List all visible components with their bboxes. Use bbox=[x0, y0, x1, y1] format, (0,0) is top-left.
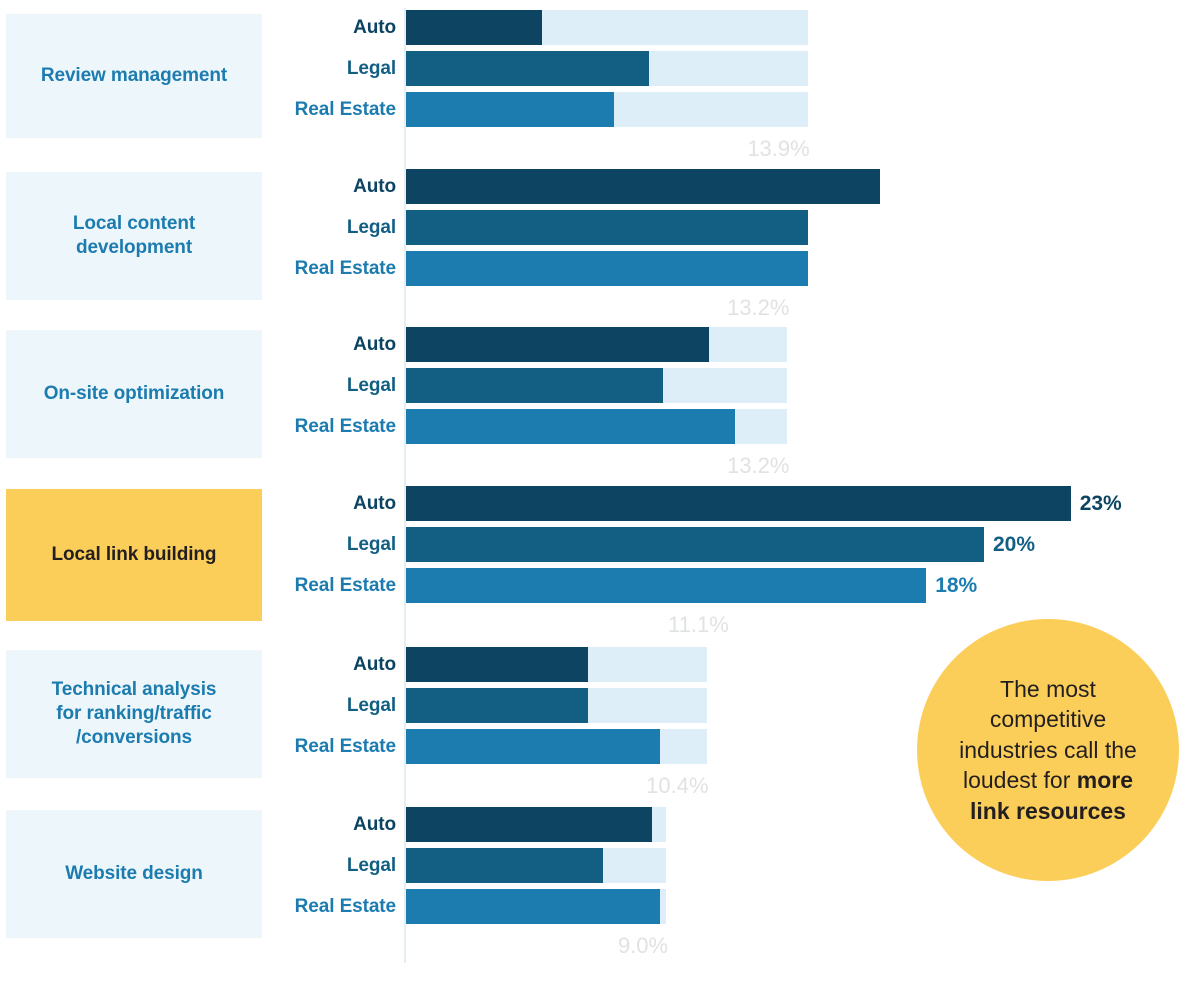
benchmark-label: 9.0% bbox=[0, 931, 668, 961]
series-label-realestate: Real Estate bbox=[0, 889, 396, 924]
series-label-realestate: Real Estate bbox=[0, 92, 396, 127]
bar-realestate[interactable] bbox=[406, 92, 614, 127]
series-label-realestate: Real Estate bbox=[0, 729, 396, 764]
bar-realestate[interactable] bbox=[406, 409, 735, 444]
bar-auto[interactable] bbox=[406, 807, 652, 842]
callout-bubble: The most competitive industries call the… bbox=[917, 619, 1179, 881]
bar-line: Legal bbox=[0, 210, 1200, 245]
series-label-legal: Legal bbox=[0, 848, 396, 883]
bar-realestate[interactable] bbox=[406, 568, 926, 603]
benchmark-label: 13.2% bbox=[0, 451, 789, 481]
series-label-legal: Legal bbox=[0, 51, 396, 86]
benchmark-label: 10.4% bbox=[0, 771, 709, 801]
series-label-auto: Auto bbox=[0, 647, 396, 682]
bar-value-label: 23% bbox=[1071, 486, 1122, 521]
bar-line: Auto bbox=[0, 327, 1200, 362]
bar-auto[interactable] bbox=[406, 647, 588, 682]
series-label-auto: Auto bbox=[0, 10, 396, 45]
bar-line: Auto bbox=[0, 169, 1200, 204]
series-label-legal: Legal bbox=[0, 527, 396, 562]
bar-line: Real Estate bbox=[0, 889, 1200, 924]
bar-chart: Review managementAutoLegalReal Estate13.… bbox=[0, 0, 1200, 993]
bar-auto[interactable] bbox=[406, 486, 1071, 521]
bar-legal[interactable] bbox=[406, 848, 603, 883]
series-label-legal: Legal bbox=[0, 210, 396, 245]
callout-line-2: competitive bbox=[990, 706, 1106, 732]
bar-auto[interactable] bbox=[406, 327, 709, 362]
callout-line-1: The most bbox=[1000, 676, 1096, 702]
bar-line: Real Estate18% bbox=[0, 568, 1200, 603]
callout-line-3: industries call the bbox=[959, 737, 1137, 763]
bar-legal[interactable] bbox=[406, 688, 588, 723]
series-label-auto: Auto bbox=[0, 486, 396, 521]
series-label-auto: Auto bbox=[0, 327, 396, 362]
series-label-legal: Legal bbox=[0, 688, 396, 723]
bar-line: Legal bbox=[0, 51, 1200, 86]
series-label-auto: Auto bbox=[0, 807, 396, 842]
bar-realestate[interactable] bbox=[406, 251, 808, 286]
series-label-realestate: Real Estate bbox=[0, 251, 396, 286]
bar-auto[interactable] bbox=[406, 10, 542, 45]
series-label-legal: Legal bbox=[0, 368, 396, 403]
bar-legal[interactable] bbox=[406, 527, 984, 562]
bar-line: Auto bbox=[0, 10, 1200, 45]
bar-line: Legal bbox=[0, 368, 1200, 403]
callout-text: The most competitive industries call the… bbox=[959, 674, 1137, 826]
callout-line-4-bold: more bbox=[1077, 767, 1133, 793]
bar-value-label: 18% bbox=[926, 568, 977, 603]
benchmark-label: 11.1% bbox=[0, 610, 729, 640]
series-label-realestate: Real Estate bbox=[0, 409, 396, 444]
bar-realestate[interactable] bbox=[406, 889, 660, 924]
callout-line-4: loudest for bbox=[963, 767, 1077, 793]
bar-legal[interactable] bbox=[406, 368, 663, 403]
bar-line: Real Estate bbox=[0, 251, 1200, 286]
series-label-auto: Auto bbox=[0, 169, 396, 204]
benchmark-label: 13.9% bbox=[0, 134, 810, 164]
bar-line: Real Estate bbox=[0, 409, 1200, 444]
bar-auto[interactable] bbox=[406, 169, 880, 204]
bar-line: Legal20% bbox=[0, 527, 1200, 562]
callout-line-5-bold: link resources bbox=[970, 798, 1126, 824]
bar-legal[interactable] bbox=[406, 210, 808, 245]
bar-realestate[interactable] bbox=[406, 729, 660, 764]
bar-legal[interactable] bbox=[406, 51, 649, 86]
bar-value-label: 20% bbox=[984, 527, 1035, 562]
benchmark-label: 13.2% bbox=[0, 293, 789, 323]
series-label-realestate: Real Estate bbox=[0, 568, 396, 603]
bar-line: Auto23% bbox=[0, 486, 1200, 521]
bar-line: Real Estate bbox=[0, 92, 1200, 127]
